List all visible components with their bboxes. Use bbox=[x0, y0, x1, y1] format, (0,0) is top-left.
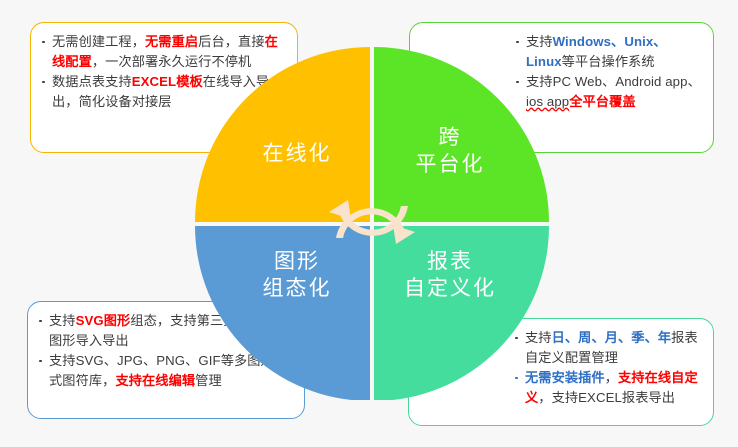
bullet-text-run: EXCEL模板 bbox=[132, 74, 203, 89]
bullet-text-run: 支持在线编辑 bbox=[115, 373, 195, 388]
bullet-text-run: 无需重启 bbox=[145, 34, 198, 49]
bullet-text-run: 全平台覆盖 bbox=[569, 94, 635, 109]
bullet-text-run: ， bbox=[605, 370, 618, 385]
bullet-text-run: 支持PC Web、Android app、 bbox=[526, 74, 701, 89]
quadrant-online[interactable] bbox=[195, 47, 370, 222]
bullet-text-run: 支持 bbox=[49, 313, 76, 328]
bullet-text-run: ，支持EXCEL报表导出 bbox=[538, 390, 675, 405]
quadrant-graphics[interactable] bbox=[195, 226, 370, 400]
bullet-text-run: SVG图形 bbox=[76, 313, 131, 328]
wheel-svg bbox=[194, 44, 550, 400]
bullet-text-run: 等平台操作系统 bbox=[562, 54, 655, 69]
bullet-text-run: 日、周、月、季、年 bbox=[552, 330, 672, 345]
diagram-canvas: 在线化 跨 平台化 图形 组态化 报表 自定义化 无需创建工程，无需重启后台，直… bbox=[0, 0, 738, 447]
feature-wheel bbox=[194, 44, 550, 400]
quadrant-cross-platform[interactable] bbox=[374, 47, 549, 222]
quadrant-reports[interactable] bbox=[374, 226, 549, 400]
bullet-text-run: 无需创建工程， bbox=[52, 34, 145, 49]
bullet-text-run: 数据点表支持 bbox=[52, 74, 132, 89]
